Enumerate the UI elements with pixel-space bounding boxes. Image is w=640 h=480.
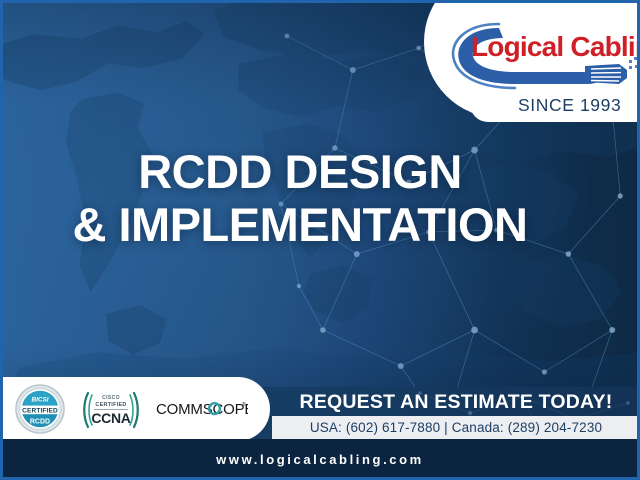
logo-graphic: Logical Cabling	[437, 10, 637, 94]
logo[interactable]: Logical Cabling	[437, 10, 637, 94]
certification-badges-panel: BICSI CERTIFIED RCDD CISCO CERTIFIED CCN…	[0, 377, 270, 441]
badge-ccna-line1: CISCO	[102, 395, 120, 401]
cta-heading: REQUEST AN ESTIMATE TODAY!	[272, 387, 640, 417]
badge-ccna-line2: CERTIFIED	[95, 402, 126, 408]
badge-ccna-line3: CCNA	[91, 410, 130, 426]
badge-commscope: COMMSCOPE ®	[156, 398, 248, 420]
badge-bicsi-line1: BICSI	[31, 397, 48, 404]
page-title: RCDD DESIGN & IMPLEMENTATION	[0, 146, 600, 251]
contact-bar: USA: (602) 617-7880 | Canada: (289) 204-…	[272, 416, 640, 439]
badge-bicsi-line3: RCDD	[30, 418, 50, 425]
svg-text:®: ®	[242, 401, 246, 408]
headline-line-2: & IMPLEMENTATION	[0, 199, 600, 252]
badge-bicsi-line2: CERTIFIED	[22, 408, 58, 415]
website-bar: www.logicalcabling.com	[0, 439, 640, 480]
since-label: SINCE 1993	[470, 92, 640, 119]
headline-line-1: RCDD DESIGN	[138, 145, 462, 198]
badge-cisco-ccna: CISCO CERTIFIED CCNA	[82, 387, 140, 431]
badge-bicsi-rcdd: BICSI CERTIFIED RCDD	[14, 383, 66, 435]
logo-wordmark: Logical Cabling	[471, 31, 637, 62]
contact-numbers[interactable]: USA: (602) 617-7880 | Canada: (289) 204-…	[310, 420, 602, 435]
website-url[interactable]: www.logicalcabling.com	[216, 452, 424, 467]
badge-commscope-wordmark: COMMSCOPE	[156, 401, 248, 418]
marketing-banner: Logical Cabling SINCE 1993 RCDD DESIGN &…	[0, 0, 640, 480]
